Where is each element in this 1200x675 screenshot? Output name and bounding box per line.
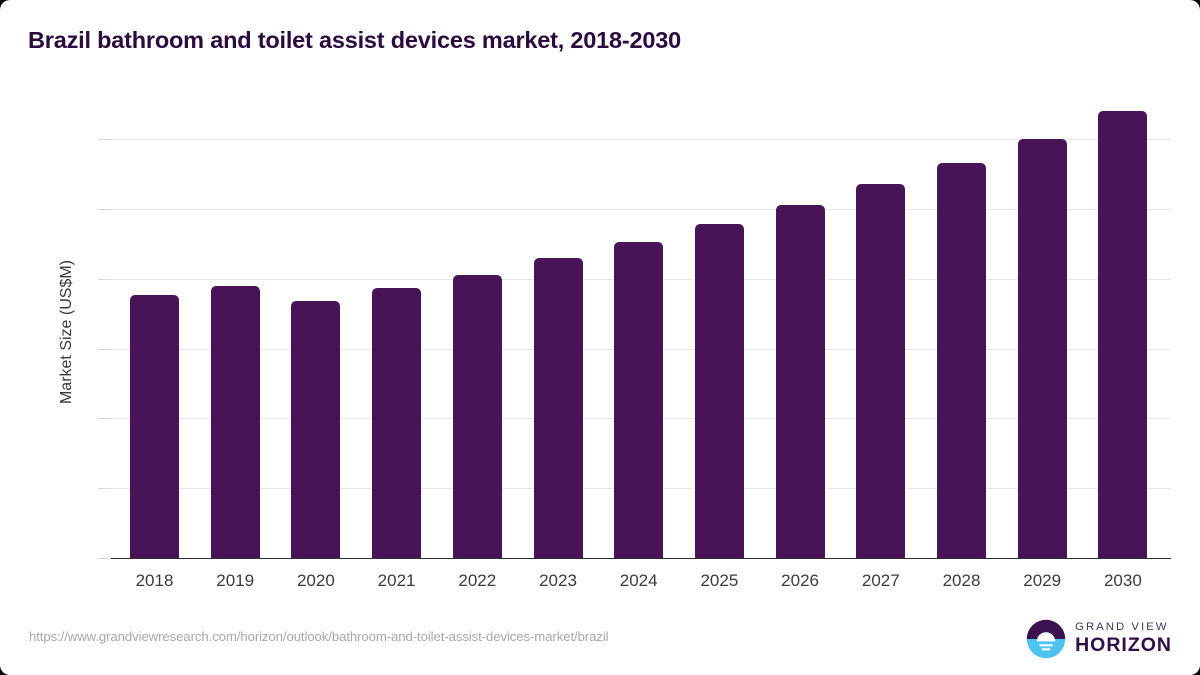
bar[interactable] [453, 275, 502, 558]
x-tick-label: 2020 [271, 571, 361, 591]
x-tick-label: 2025 [674, 571, 764, 591]
bar[interactable] [856, 184, 905, 558]
bar[interactable] [1098, 111, 1147, 558]
logo-wordmark: GRAND VIEW HORIZON [1075, 622, 1172, 656]
bar[interactable] [291, 301, 340, 558]
x-tick-label: 2022 [432, 571, 522, 591]
chart-page: Brazil bathroom and toilet assist device… [0, 0, 1200, 675]
logo-line-horizon: HORIZON [1075, 636, 1172, 656]
y-tick-mark [98, 349, 111, 350]
bar[interactable] [614, 242, 663, 558]
x-tick-label: 2021 [352, 571, 442, 591]
y-tick-mark [98, 418, 111, 419]
bar[interactable] [211, 286, 260, 558]
y-tick-mark [98, 558, 111, 559]
plot-area: Market Size (US$M) 0255075100125150 2018… [111, 100, 1171, 559]
bar[interactable] [776, 205, 825, 558]
y-tick-mark [98, 488, 111, 489]
y-axis-title: Market Size (US$M) [58, 260, 76, 404]
bar[interactable] [1018, 139, 1067, 558]
y-tick-mark [98, 209, 111, 210]
x-tick-label: 2019 [190, 571, 280, 591]
grand-view-horizon-logo: GRAND VIEW HORIZON [1026, 618, 1172, 660]
bar[interactable] [937, 163, 986, 558]
page-title: Brazil bathroom and toilet assist device… [28, 27, 681, 54]
y-tick-mark [98, 279, 111, 280]
x-tick-label: 2024 [594, 571, 684, 591]
bar[interactable] [534, 258, 583, 558]
bar-series [111, 100, 1171, 559]
source-url: https://www.grandviewresearch.com/horizo… [29, 629, 609, 644]
bar[interactable] [695, 224, 744, 558]
bar[interactable] [372, 288, 421, 558]
x-tick-label: 2018 [110, 571, 200, 591]
bar[interactable] [130, 295, 179, 558]
x-tick-label: 2029 [997, 571, 1087, 591]
logo-line-grand-view: GRAND VIEW [1075, 622, 1172, 633]
horizon-circle-icon [1026, 619, 1066, 659]
x-tick-label: 2027 [836, 571, 926, 591]
y-tick-mark [98, 139, 111, 140]
x-tick-label: 2030 [1078, 571, 1168, 591]
x-tick-label: 2023 [513, 571, 603, 591]
x-tick-label: 2026 [755, 571, 845, 591]
x-tick-label: 2028 [917, 571, 1007, 591]
